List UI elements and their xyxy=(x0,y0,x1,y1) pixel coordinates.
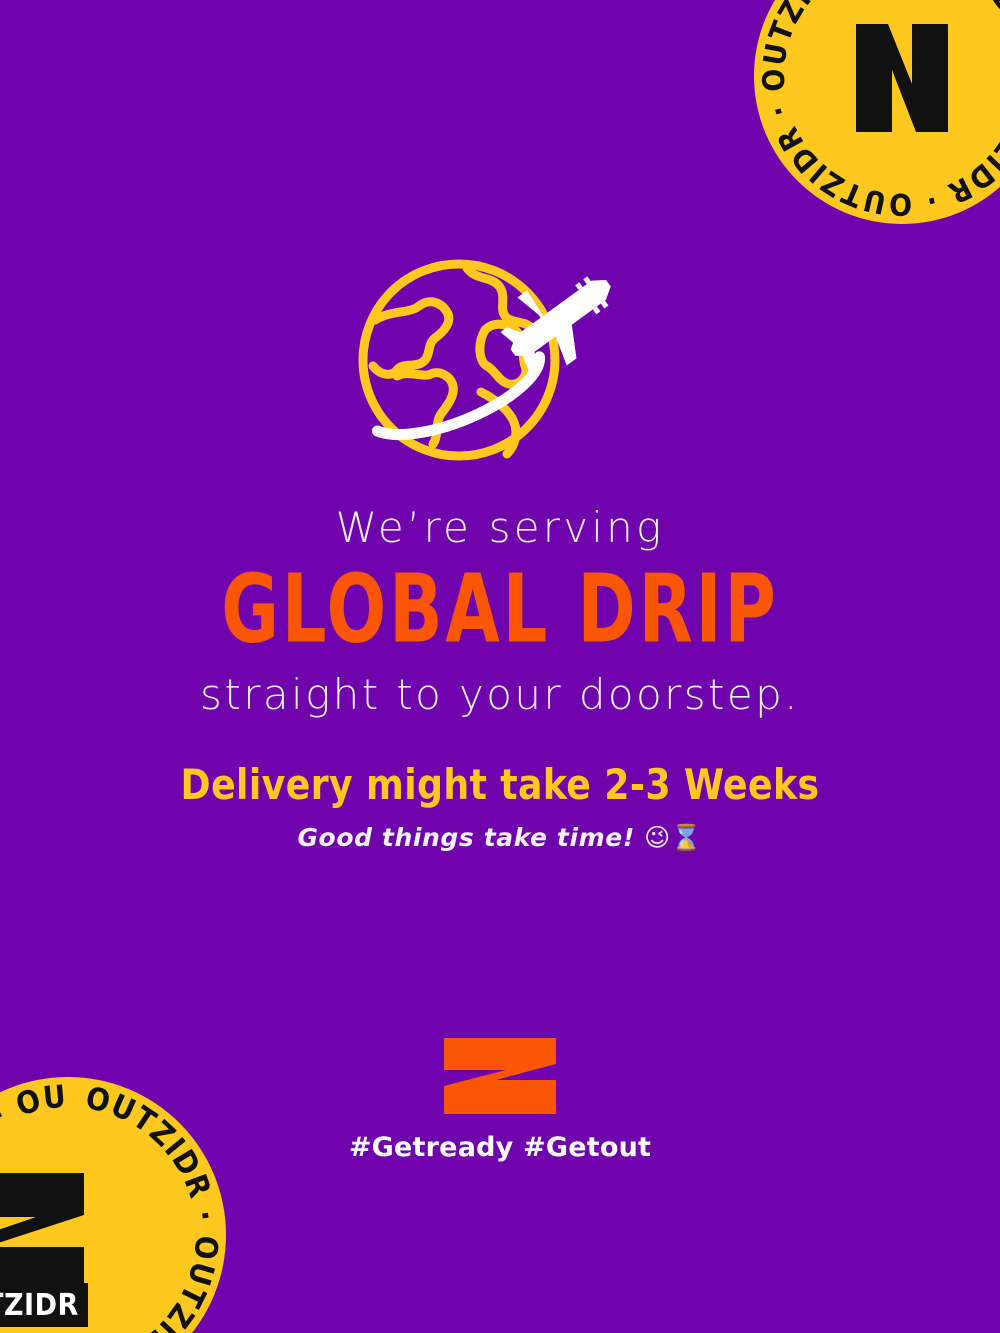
globe-airplane-icon xyxy=(335,258,665,468)
delivery-time-text: Delivery might take 2-3 Weeks xyxy=(20,760,980,809)
headline-line-3: straight to your doorstep. xyxy=(0,672,1000,717)
headline-line-1: We’re serving xyxy=(0,505,1000,550)
brand-tagline: #Getready #Getout xyxy=(0,1132,1000,1163)
footer-block: #Getready #Getout xyxy=(0,1036,1000,1163)
wink-hourglass-emoji: 😉⌛ xyxy=(644,823,702,852)
headline-block: We’re serving GLOBAL DRIP straight to yo… xyxy=(0,505,1000,717)
delivery-subtext: Good things take time! 😉⌛ xyxy=(0,823,1000,853)
poster-canvas: OUTZIDR · OUTZIDR · OUTZIDR · OUTZIDR · … xyxy=(0,0,1000,1333)
headline-line-2: GLOBAL DRIP xyxy=(35,562,965,658)
outzidr-z-logo xyxy=(442,1036,558,1116)
delivery-subtext-label: Good things take time! xyxy=(297,823,634,852)
outzidr-badge-top-right: OUTZIDR · OUTZIDR · OUTZIDR · OUTZIDR · … xyxy=(752,0,1000,226)
delivery-block: Delivery might take 2-3 Weeks Good thing… xyxy=(0,760,1000,853)
svg-text:OUTZIDR: OUTZIDR xyxy=(0,1288,79,1323)
